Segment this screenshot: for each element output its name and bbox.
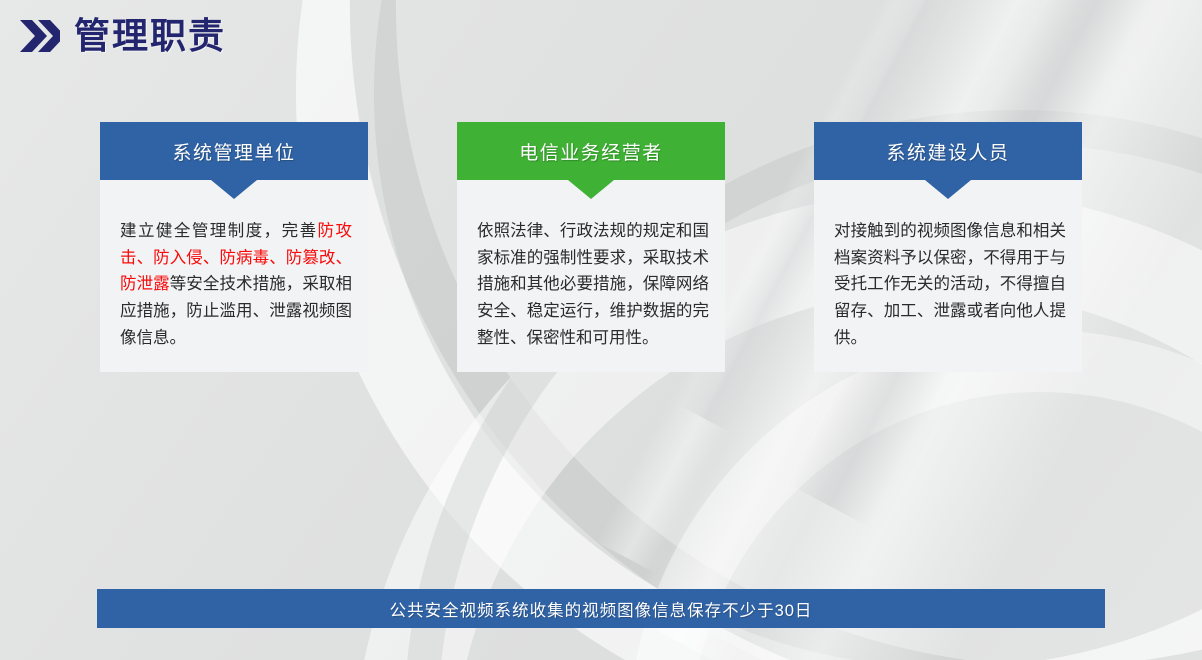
page-title: 管理职责 bbox=[74, 18, 226, 54]
cards-row: 系统管理单位 建立健全管理制度，完善防攻击、防入侵、防病毒、防篡改、防泄露等安全… bbox=[100, 122, 1082, 372]
card-header-2: 电信业务经营者 bbox=[457, 122, 725, 180]
footer-banner: 公共安全视频系统收集的视频图像信息保存不少于30日 bbox=[97, 589, 1105, 628]
card-system-construction-personnel: 系统建设人员 对接触到的视频图像信息和相关档案资料予以保密，不得用于与受托工作无… bbox=[814, 122, 1082, 372]
double-chevron-right-icon bbox=[18, 16, 60, 56]
slide-header: 管理职责 bbox=[18, 16, 226, 56]
card-body-3: 对接触到的视频图像信息和相关档案资料予以保密，不得用于与受托工作无关的活动，不得… bbox=[814, 180, 1082, 372]
card-body-1-prefix: 建立健全管理制度，完善 bbox=[120, 222, 318, 240]
footer-banner-text: 公共安全视频系统收集的视频图像信息保存不少于30日 bbox=[390, 597, 813, 621]
card-title-3: 系统建设人员 bbox=[886, 138, 1009, 165]
card-header-1: 系统管理单位 bbox=[100, 122, 368, 180]
card-title-1: 系统管理单位 bbox=[172, 138, 295, 165]
card-body-2-text: 依照法律、行政法规的规定和国家标准的强制性要求，采取技术措施和其他必要措施，保障… bbox=[477, 222, 709, 347]
card-title-2: 电信业务经营者 bbox=[519, 138, 663, 165]
card-header-3: 系统建设人员 bbox=[814, 122, 1082, 180]
card-body-2: 依照法律、行政法规的规定和国家标准的强制性要求，采取技术措施和其他必要措施，保障… bbox=[457, 180, 725, 372]
card-telecom-operator: 电信业务经营者 依照法律、行政法规的规定和国家标准的强制性要求，采取技术措施和其… bbox=[457, 122, 725, 372]
card-body-3-text: 对接触到的视频图像信息和相关档案资料予以保密，不得用于与受托工作无关的活动，不得… bbox=[834, 222, 1066, 347]
card-system-management-unit: 系统管理单位 建立健全管理制度，完善防攻击、防入侵、防病毒、防篡改、防泄露等安全… bbox=[100, 122, 368, 372]
card-body-1: 建立健全管理制度，完善防攻击、防入侵、防病毒、防篡改、防泄露等安全技术措施，采取… bbox=[100, 180, 368, 372]
